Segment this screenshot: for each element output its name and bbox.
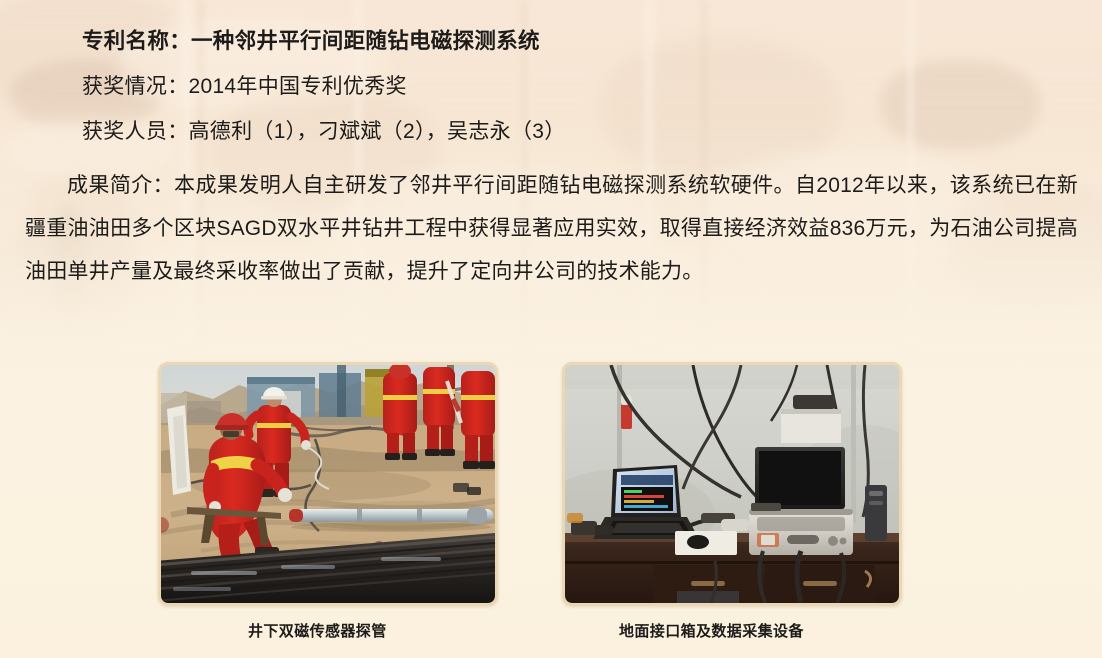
photo-1-image [161,365,495,603]
achievement-summary-paragraph: 成果简介：本成果发明人自主研发了邻井平行间距随钻电磁探测系统软硬件。自2012年… [25,164,1078,293]
slide-page: 专利名称：一种邻井平行间距随钻电磁探测系统 获奖情况：2014年中国专利优秀奖 … [0,0,1102,658]
oilfield-workers-illustration [161,365,495,603]
figure-1-caption: 井下双磁传感器探管 [248,620,387,641]
award-status-line: 获奖情况：2014年中国专利优秀奖 [82,76,407,97]
photo-2-image [565,365,899,603]
data-acquisition-equipment-illustration [565,365,899,603]
patent-title-line: 专利名称：一种邻井平行间距随钻电磁探测系统 [82,31,540,53]
figure-surface-equipment-photo [562,362,902,606]
award-recipients-line: 获奖人员：高德利（1），刁斌斌（2），吴志永（3） [82,121,566,142]
figure-downhole-sensor-photo [158,362,498,606]
figure-2-caption: 地面接口箱及数据采集设备 [619,620,804,641]
